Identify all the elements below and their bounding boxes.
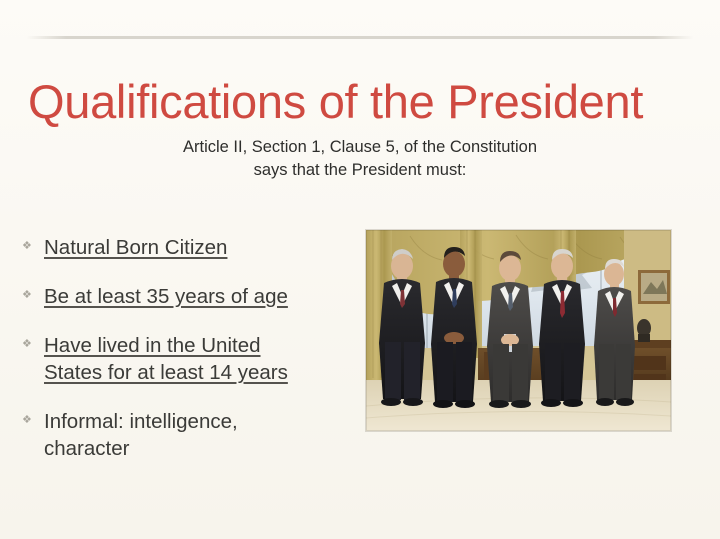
list-item: ❖ Natural Born Citizen [22,234,362,261]
title-divider-rule [26,36,694,39]
subtitle-block: Article II, Section 1, Clause 5, of the … [60,136,660,182]
list-item-line: Be at least 35 years of age [44,283,362,310]
list-item: ❖ Have lived in the United States for at… [22,332,362,386]
photo-artwork [366,230,671,431]
presentation-slide: Qualifications of the President Article … [0,0,720,539]
list-item-text: Be at least 35 years of age [44,283,362,310]
list-item-line: Have lived in the United [44,332,362,359]
diamond-bullet-icon: ❖ [22,234,44,252]
list-item-text: Informal: intelligence, character [44,408,362,462]
diamond-bullet-icon: ❖ [22,283,44,301]
list-item-line: States for at least 14 years [44,359,362,386]
list-item-text: Natural Born Citizen [44,234,362,261]
list-item-line: Natural Born Citizen [44,234,362,261]
list-item-line: Informal: intelligence, [44,408,362,435]
list-item-line: character [44,435,362,462]
qualifications-bullet-list: ❖ Natural Born Citizen ❖ Be at least 35 … [22,234,362,462]
subtitle-line-1: Article II, Section 1, Clause 5, of the … [60,136,660,159]
subtitle-line-2: says that the President must: [60,159,660,182]
page-title: Qualifications of the President [28,74,700,130]
list-item-text: Have lived in the United States for at l… [44,332,362,386]
diamond-bullet-icon: ❖ [22,332,44,350]
list-item: ❖ Be at least 35 years of age [22,283,362,310]
list-item: ❖ Informal: intelligence, character [22,408,362,462]
diamond-bullet-icon: ❖ [22,408,44,426]
five-presidents-oval-office-photo [366,230,671,431]
